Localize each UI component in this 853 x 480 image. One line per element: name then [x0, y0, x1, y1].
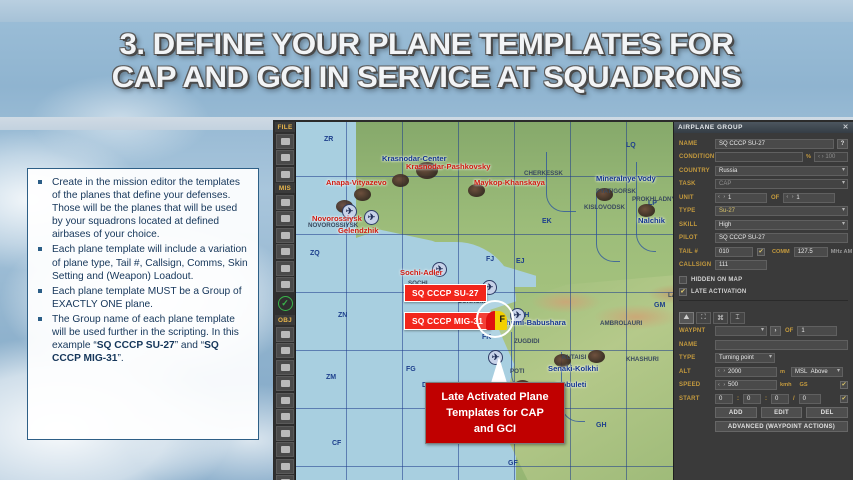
condition-label: CONDITION [679, 154, 715, 160]
delete-waypoint-button[interactable]: DEL [806, 407, 848, 418]
pilot-input[interactable]: SQ CCCP SU-27 [715, 233, 848, 243]
name-label: NAME [679, 141, 715, 147]
city-label: KUTAISI [562, 354, 586, 361]
comm-checkbox[interactable]: ✔ [757, 248, 765, 256]
slide-title: 3. DEFINE YOUR PLANE TEMPLATES FOR CAP A… [0, 28, 853, 94]
skill-label: SKILL [679, 222, 715, 228]
callout-box: Late Activated Plane Templates for CAP a… [425, 382, 565, 444]
name-row: NAME SQ CCCP SU-27 ? [679, 138, 848, 149]
grid-label: CF [332, 440, 341, 447]
start-enable-checkbox[interactable]: ✔ [840, 395, 848, 403]
bullet4-post: ”. [117, 353, 123, 364]
name-input[interactable]: SQ CCCP SU-27 [715, 139, 834, 149]
airbase-label-maykop-khanskaya: Maykop-Khanskaya [474, 178, 545, 187]
tail-comm-row: TAIL # 010 ✔ COMM 127.5 MHz AM [679, 246, 848, 257]
grid-label: GH [596, 422, 607, 429]
grid-label: GM [654, 302, 665, 309]
airbase-label-krasnodar-center: Krasnodar-Center [382, 154, 447, 163]
unit-label: UNIT [679, 195, 715, 201]
unit-row: UNIT 1 OF 1 [679, 192, 848, 203]
anchor-icon[interactable] [276, 459, 294, 474]
weather-icon[interactable] [276, 211, 294, 226]
airbase-label-nalchik: Nalchik [638, 216, 665, 225]
city-label: POTI [510, 368, 524, 375]
options-icon[interactable] [276, 244, 294, 259]
waypoint-button-row: ADD EDIT DEL [679, 407, 848, 418]
country-select[interactable]: Russia [715, 166, 848, 176]
waypoint-of-label: OF [785, 328, 793, 334]
task-select[interactable]: CAP [715, 179, 848, 189]
unit-marker[interactable]: ✈ [364, 210, 379, 225]
toolbar-section-obj: OBJ [275, 315, 295, 325]
start-row: START 0 : 0 : 0 / 0 ✔ [679, 393, 848, 404]
city-label: KISLOVODSK [584, 204, 625, 211]
cargo-icon[interactable] [276, 475, 294, 480]
pilot-label: PILOT [679, 235, 715, 241]
open-mission-icon[interactable] [276, 150, 294, 165]
city-label: KHASHURI [626, 356, 659, 363]
help-button[interactable]: ? [837, 139, 848, 149]
start-sep-3: / [793, 396, 795, 402]
callout-arrow-icon [491, 357, 507, 383]
late-activation-checkbox[interactable]: ✔ [679, 288, 687, 296]
waypoint-type-select[interactable]: Turning point [715, 353, 775, 363]
highlight-circle: F [476, 300, 514, 338]
city-label: ZUGDIDI [514, 338, 539, 345]
start-days-input[interactable]: 0 [799, 394, 821, 404]
comm-unit-label: MHz AM [831, 249, 853, 255]
country-row: COUNTRY Russia [679, 165, 848, 176]
city-label: CHERKESSK [524, 170, 563, 177]
speed-row: SPEED 500 kmh GS ✔ [679, 380, 848, 391]
alt-row: ALT 2000 m MSL Above [679, 366, 848, 377]
top-band [0, 0, 853, 22]
grid-label: ZQ [310, 250, 320, 257]
airbase-label-senaki-kolkhi: Senaki-Kolkhi [548, 364, 598, 373]
callsign-row: CALLSIGN 111 [679, 260, 848, 271]
alt-unit-label: m [780, 369, 785, 375]
airbase-marker[interactable] [354, 188, 371, 201]
grid-label: ZR [324, 136, 333, 143]
grid-label: GF [508, 460, 518, 467]
airplane-group-panel: AIRPLANE GROUP ✕ NAME SQ CCCP SU-27 ? CO… [673, 122, 853, 480]
start-hours-input[interactable]: 0 [715, 394, 733, 404]
plane-icon[interactable] [276, 327, 294, 342]
group-label-su27[interactable]: SQ CCCP SU-27 [404, 284, 487, 302]
trigger-zone-icon[interactable] [276, 409, 294, 424]
condition-row: CONDITION % ‹ › 100 [679, 152, 848, 163]
alt-mode-label: Above [811, 369, 828, 375]
late-activation-label: LATE ACTIVATION [691, 289, 746, 295]
start-sep-2: : [765, 396, 767, 402]
callsign-label: CALLSIGN [679, 262, 715, 268]
unit-index-input[interactable]: 1 [715, 193, 767, 203]
alt-label: ALT [679, 369, 715, 375]
bullet-item-2: Each plane template will include a varia… [34, 243, 250, 282]
hidden-on-map-row[interactable]: HIDDEN ON MAP [679, 275, 848, 285]
type-row: TYPE Su-27 [679, 206, 848, 217]
validate-icon[interactable] [276, 277, 294, 292]
grid-label: EK [542, 218, 552, 225]
briefing-icon[interactable] [276, 195, 294, 210]
airbase-label-sochi-adler: Sochi-Adler [400, 268, 443, 277]
static-icon[interactable] [276, 393, 294, 408]
airbase-marker[interactable] [392, 174, 409, 187]
waypoint-name-label: NAME [679, 342, 715, 348]
mission-map[interactable]: ZR ZQ ZN ZM LQ LP EJ EK FH FJ FG FK DG D… [296, 122, 696, 480]
failures-icon[interactable] [276, 228, 294, 243]
vehicle-icon[interactable] [276, 376, 294, 391]
alt-ref-label: MSL [795, 369, 807, 375]
waypoint-name-row: NAME [679, 339, 848, 350]
speed-input[interactable]: 500 [715, 380, 777, 390]
start-sep-1: : [737, 396, 739, 402]
start-seconds-input[interactable]: 0 [771, 394, 789, 404]
unit-total-input[interactable]: 1 [783, 193, 835, 203]
grid-label: FJ [486, 256, 494, 263]
close-icon[interactable]: ✕ [843, 123, 849, 131]
units-icon[interactable] [276, 261, 294, 276]
formation-tab[interactable]: ⛶ [696, 312, 711, 324]
pilot-row: PILOT SQ CCCP SU-27 [679, 233, 848, 244]
hidden-on-map-checkbox[interactable] [679, 276, 687, 284]
condition-slider[interactable] [715, 152, 803, 162]
toolbar-section-file: FILE [275, 122, 295, 132]
waypoint-tab-bar: ⛰ ⛶ ⌘ ⌶ [674, 308, 853, 326]
airbase-marker[interactable] [588, 350, 605, 363]
panel-title-bar: AIRPLANE GROUP ✕ [674, 122, 853, 133]
task-label: TASK [679, 181, 715, 187]
city-label: NOVOROSSIYSK [308, 222, 358, 229]
start-label: START [679, 396, 715, 402]
callsign-input[interactable]: 111 [715, 260, 767, 270]
route-tab[interactable]: ⛰ [679, 312, 694, 324]
accept-icon[interactable]: ✓ [276, 294, 294, 314]
bullet-list: Create in the mission editor the templat… [34, 176, 250, 365]
airbase-label-anapa: Anapa-Vityazevo [326, 178, 387, 187]
waypoint-name-input[interactable] [715, 340, 848, 350]
tail-label: TAIL # [679, 249, 715, 255]
editor-left-toolbar: FILE MIS ✓ OBJ MAP [274, 122, 296, 480]
waypoint-label: WAYPNT [679, 328, 715, 334]
unit-of-label: OF [771, 195, 779, 201]
bullet-panel: Create in the mission editor the templat… [27, 168, 259, 440]
alt-ref-select[interactable]: MSL Above [791, 367, 843, 377]
bullet-item-1: Create in the mission editor the templat… [34, 176, 250, 241]
bullet4-bold-1: SQ CCCP SU-27 [97, 340, 175, 351]
late-activation-row[interactable]: ✔ LATE ACTIVATION [679, 287, 848, 297]
late-activation-flag-icon: F [486, 311, 507, 330]
condition-spinner[interactable]: ‹ › 100 [814, 152, 848, 162]
save-mission-icon[interactable] [276, 167, 294, 182]
speed-unit-label: kmh [780, 382, 792, 388]
grid-label: ZN [338, 312, 347, 319]
country-label: COUNTRY [679, 168, 715, 174]
grid-label: ZM [326, 374, 336, 381]
airbase-label-krasnodar-pashkovsky: Krasnodar-Pashkovsky [406, 162, 490, 171]
advanced-button-row: ADVANCED (WAYPOINT ACTIONS) [679, 421, 848, 432]
speed-label: SPEED [679, 382, 715, 388]
speed-gs-checkbox[interactable]: ✔ [840, 381, 848, 389]
city-label: PYATIGORSK [596, 188, 636, 195]
city-label: AMBROLAURI [600, 320, 642, 327]
bullet-item-3: Each plane template MUST be a Group of E… [34, 285, 250, 311]
bullet4-mid: ” and “ [175, 340, 204, 351]
tail-input[interactable]: 010 [715, 247, 753, 257]
circle-icon[interactable] [276, 426, 294, 441]
comm-label: COMM [772, 249, 790, 255]
toolbar-section-mis: MIS [275, 183, 295, 193]
mission-editor-window: FILE MIS ✓ OBJ MAP [273, 120, 853, 480]
airbase-label-mineralnye-vody: Mineralnye Vody [596, 174, 656, 183]
skill-select[interactable]: High [715, 220, 848, 230]
alt-input[interactable]: 2000 [715, 367, 777, 377]
waypoint-total-input[interactable]: 1 [797, 326, 837, 336]
waypoint-type-label: TYPE [679, 355, 715, 361]
waypoint-next-button[interactable]: › [770, 326, 781, 336]
hidden-on-map-label: HIDDEN ON MAP [691, 277, 742, 283]
target-icon[interactable] [276, 442, 294, 457]
add-waypoint-button[interactable]: ADD [715, 407, 757, 418]
task-row: TASK CAP [679, 179, 848, 190]
grid-label: FG [406, 366, 416, 373]
panel-title: AIRPLANE GROUP [678, 124, 743, 131]
type-select[interactable]: Su-27 [715, 206, 848, 216]
new-mission-icon[interactable] [276, 134, 294, 149]
waypoint-select[interactable] [715, 326, 767, 336]
edit-waypoint-button[interactable]: EDIT [761, 407, 803, 418]
waypoint-type-row: TYPE Turning point [679, 353, 848, 364]
grid-label: LQ [626, 142, 636, 149]
options-tab[interactable]: ⌶ [730, 312, 745, 324]
grid-label: EJ [516, 258, 525, 265]
panel-body: NAME SQ CCCP SU-27 ? CONDITION % ‹ › 100… [674, 133, 853, 308]
type-label: TYPE [679, 208, 715, 214]
comm-input[interactable]: 127.5 [794, 247, 828, 257]
waypoint-body: WAYPNT › OF 1 NAME TYPE Turning point AL… [674, 326, 853, 437]
bullet-item-4: The Group name of each plane template wi… [34, 313, 250, 365]
start-minutes-input[interactable]: 0 [743, 394, 761, 404]
waypoint-row: WAYPNT › OF 1 [679, 326, 848, 337]
condition-percent-label: % [806, 154, 811, 160]
helicopter-icon[interactable] [276, 343, 294, 358]
advanced-waypoint-actions-button[interactable]: ADVANCED (WAYPOINT ACTIONS) [715, 421, 848, 432]
ship-icon[interactable] [276, 360, 294, 375]
link-tab[interactable]: ⌘ [713, 312, 728, 324]
speed-gs-label: GS [800, 382, 808, 388]
city-label: PROKHLADNY [632, 196, 676, 203]
panel-divider [679, 300, 848, 301]
skill-row: SKILL High [679, 219, 848, 230]
